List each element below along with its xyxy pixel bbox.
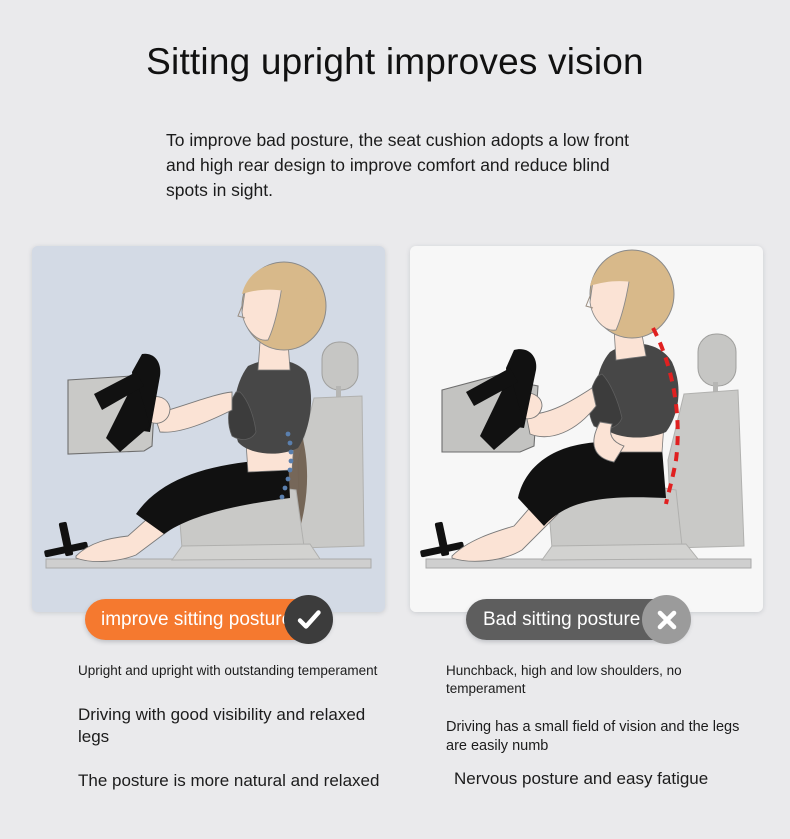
bad-posture-badge-label: Bad sitting posture [483,609,640,631]
bad-posture-panel [410,246,763,612]
bad-posture-illustration [410,246,763,612]
good-posture-badge-label: improve sitting posture [101,609,292,631]
feature-lists: Upright and upright with outstanding tem… [0,662,790,802]
page-subtitle: To improve bad posture, the seat cushion… [166,128,636,203]
bad-feature-1: Hunchback, high and low shoulders, no te… [446,662,764,698]
bad-posture-badge: Bad sitting posture [466,599,690,640]
good-posture-panel [32,246,385,612]
good-posture-illustration [32,246,385,612]
good-feature-2: Driving with good visibility and relaxed… [78,704,398,749]
good-feature-3: The posture is more natural and relaxed [78,770,398,792]
good-feature-1: Upright and upright with outstanding tem… [78,662,398,680]
bad-feature-3: Nervous posture and easy fatigue [446,768,764,790]
bad-feature-2: Driving has a small field of vision and … [446,718,764,756]
page-title: Sitting upright improves vision [0,42,790,83]
good-posture-badge: improve sitting posture [85,599,332,640]
good-posture-feature-list: Upright and upright with outstanding tem… [78,662,398,792]
bad-posture-feature-list: Hunchback, high and low shoulders, no te… [446,662,764,790]
check-icon [284,595,333,644]
